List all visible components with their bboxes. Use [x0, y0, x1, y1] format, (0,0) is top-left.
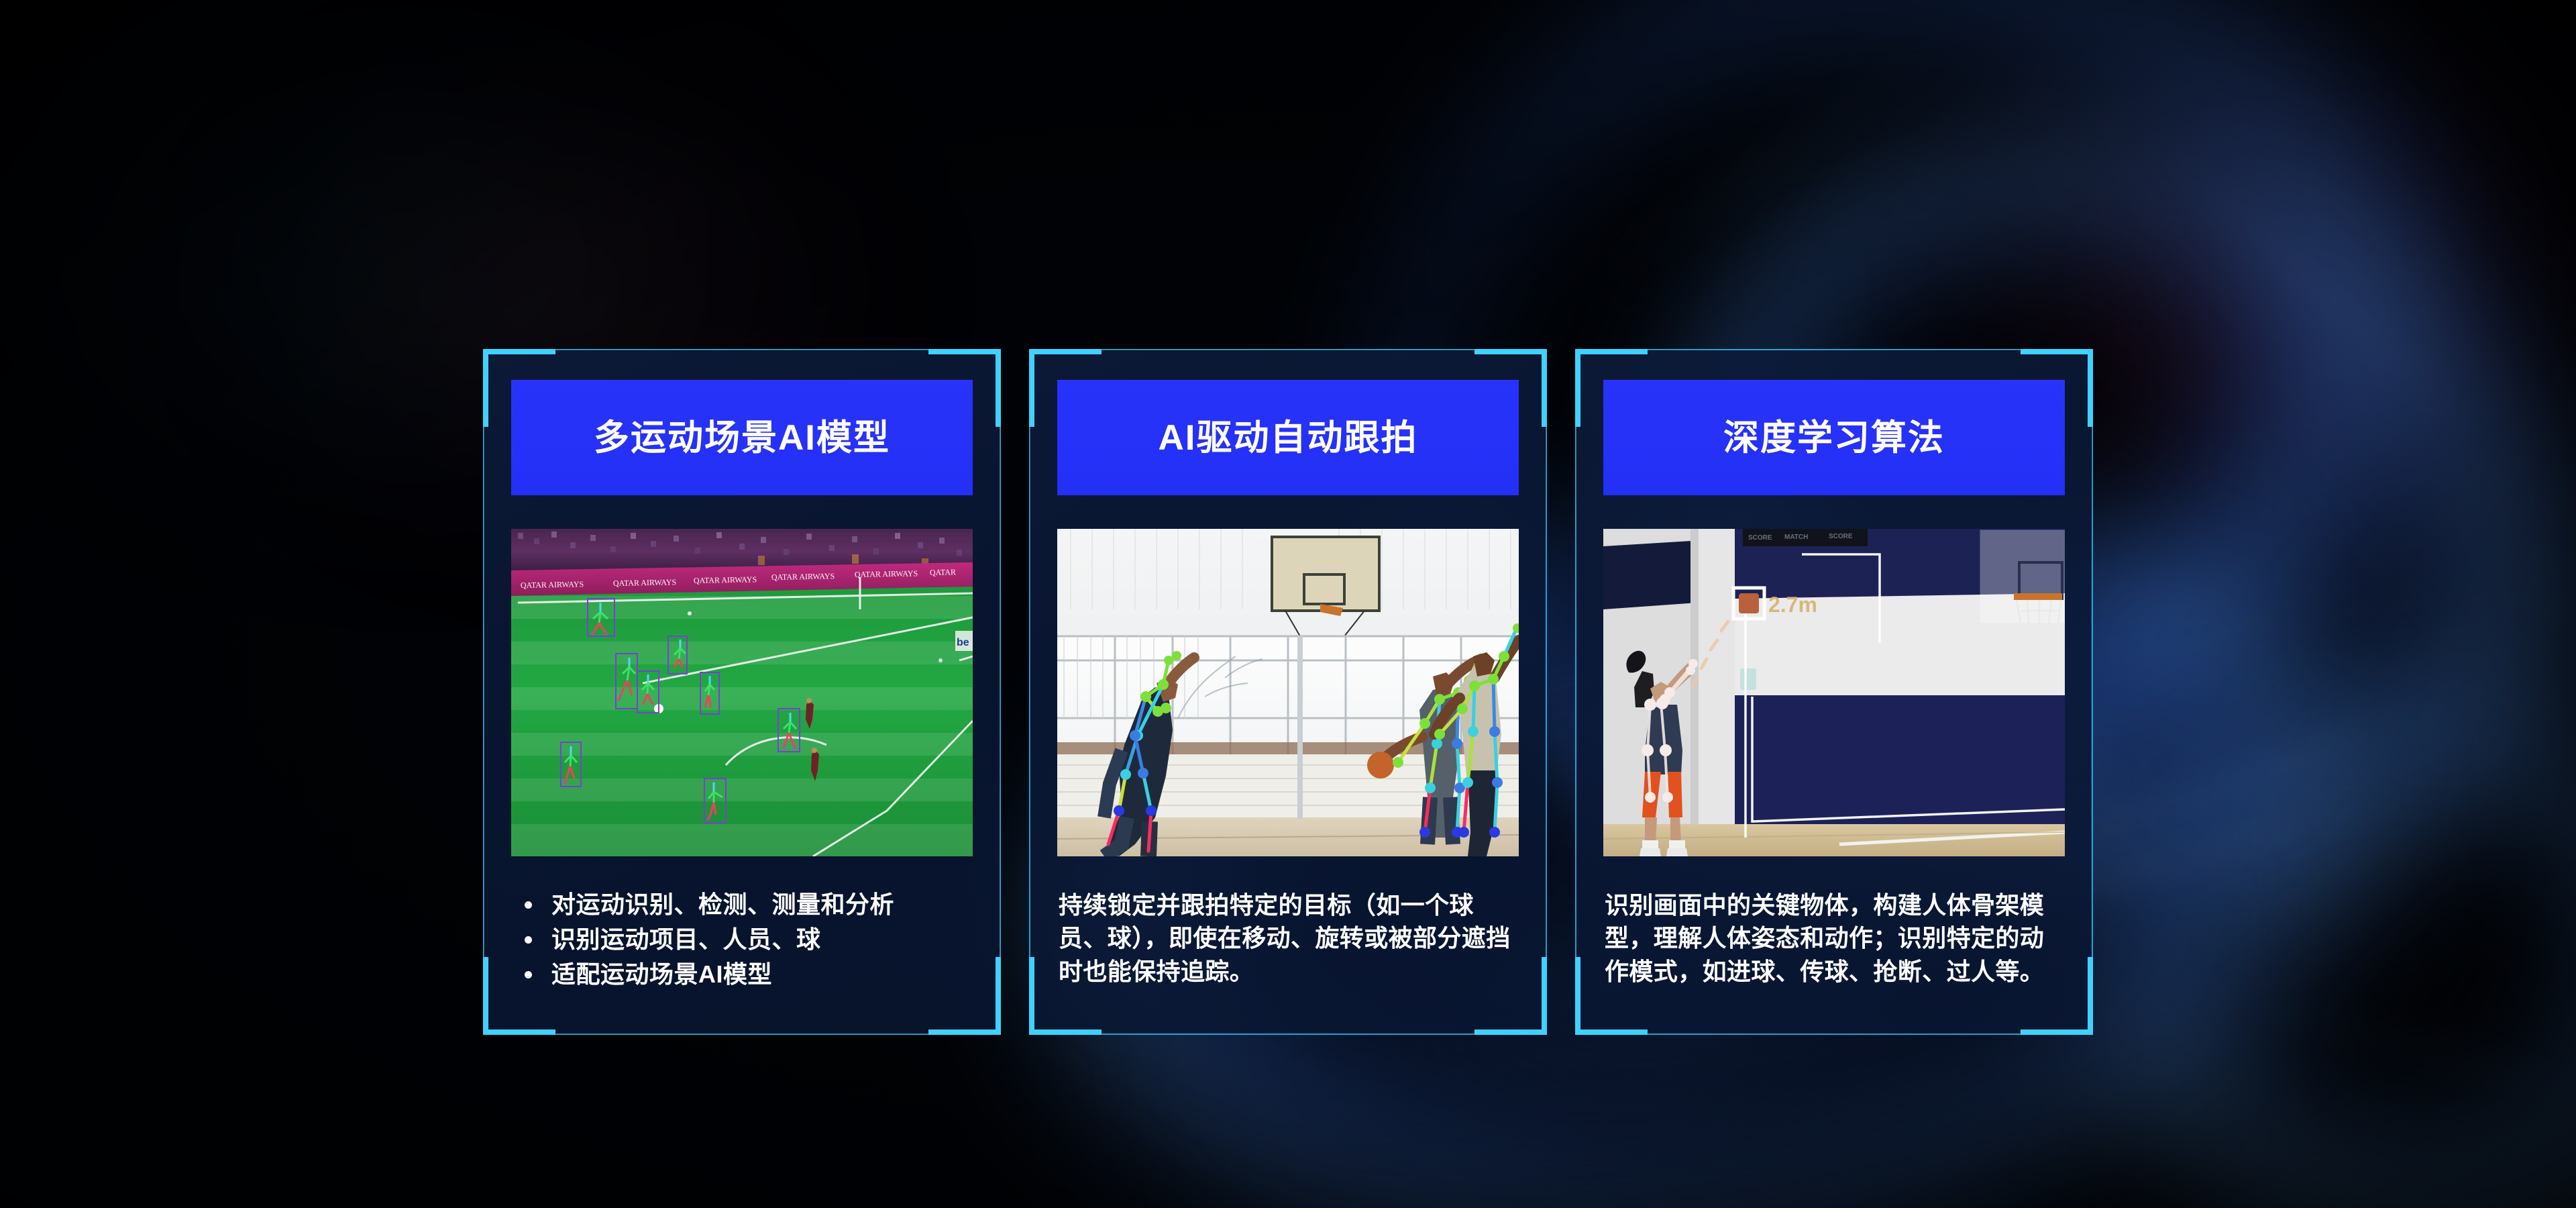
svg-text:QATAR AIRWAYS: QATAR AIRWAYS [771, 571, 835, 582]
card-media-gym-basketball-pose-preview[interactable] [1057, 529, 1519, 856]
card-title: 多运动场景AI模型 [594, 420, 890, 456]
svg-text:SCORE: SCORE [1829, 533, 1853, 540]
svg-text:QATAR AIRWAYS: QATAR AIRWAYS [694, 574, 757, 585]
soccer-pitch-illustration: QATAR AIRWAYS QATAR AIRWAYS QATAR AIRWAY… [511, 529, 973, 856]
svg-text:QATAR AIRWAYS: QATAR AIRWAYS [521, 579, 584, 590]
card-title: 深度学习算法 [1723, 420, 1945, 456]
card-body: 识别画面中的关键物体，构建人体骨架模型，理解人体姿态和动作；识别特定的动作模式，… [1603, 889, 2065, 988]
list-item: 识别运动项目、人员、球 [513, 923, 971, 956]
svg-text:QATAR AIRWAYS: QATAR AIRWAYS [613, 577, 677, 588]
feature-card-deep-learning-algorithm[interactable]: 深度学习算法 [1575, 349, 2093, 1035]
card-header-banner: 深度学习算法 [1603, 380, 2065, 495]
card-body: 持续锁定并跟拍特定的目标（如一个球员、球），即使在移动、旋转或被部分遮挡时也能保… [1057, 889, 1519, 988]
feature-card-multi-sport-ai-model[interactable]: 多运动场景AI模型 [483, 349, 1001, 1035]
feature-card-ai-auto-tracking[interactable]: AI驱动自动跟拍 [1029, 349, 1547, 1035]
list-item: 适配运动场景AI模型 [513, 958, 971, 991]
feature-card-grid: 多运动场景AI模型 [0, 0, 2576, 1208]
svg-text:QATAR: QATAR [930, 567, 956, 577]
gym-illustration [1057, 529, 1519, 856]
svg-text:be: be [957, 637, 969, 648]
feature-bullet-list: 对运动识别、检测、测量和分析 识别运动项目、人员、球 适配运动场景AI模型 [513, 889, 971, 991]
card-body: 对运动识别、检测、测量和分析 识别运动项目、人员、球 适配运动场景AI模型 [511, 889, 973, 994]
list-item: 对运动识别、检测、测量和分析 [513, 889, 971, 921]
feature-description: 识别画面中的关键物体，构建人体骨架模型，理解人体姿态和动作；识别特定的动作模式，… [1605, 889, 2063, 988]
svg-text:MATCH: MATCH [1784, 534, 1808, 541]
card-media-soccer-pitch-detection-preview[interactable]: QATAR AIRWAYS QATAR AIRWAYS QATAR AIRWAY… [511, 529, 973, 856]
court-measurement-illustration: SCOREMATCHSCORE [1603, 529, 2065, 856]
svg-text:QATAR AIRWAYS: QATAR AIRWAYS [855, 568, 918, 579]
measurement-label: 2.7m [1768, 593, 1817, 617]
feature-description: 持续锁定并跟拍特定的目标（如一个球员、球），即使在移动、旋转或被部分遮挡时也能保… [1059, 889, 1517, 988]
card-header-banner: 多运动场景AI模型 [511, 380, 973, 495]
card-header-banner: AI驱动自动跟拍 [1057, 380, 1519, 495]
card-title: AI驱动自动跟拍 [1159, 420, 1418, 456]
svg-text:SCORE: SCORE [1748, 534, 1772, 542]
card-media-basketball-shot-measurement-preview[interactable]: SCOREMATCHSCORE [1603, 529, 2065, 856]
